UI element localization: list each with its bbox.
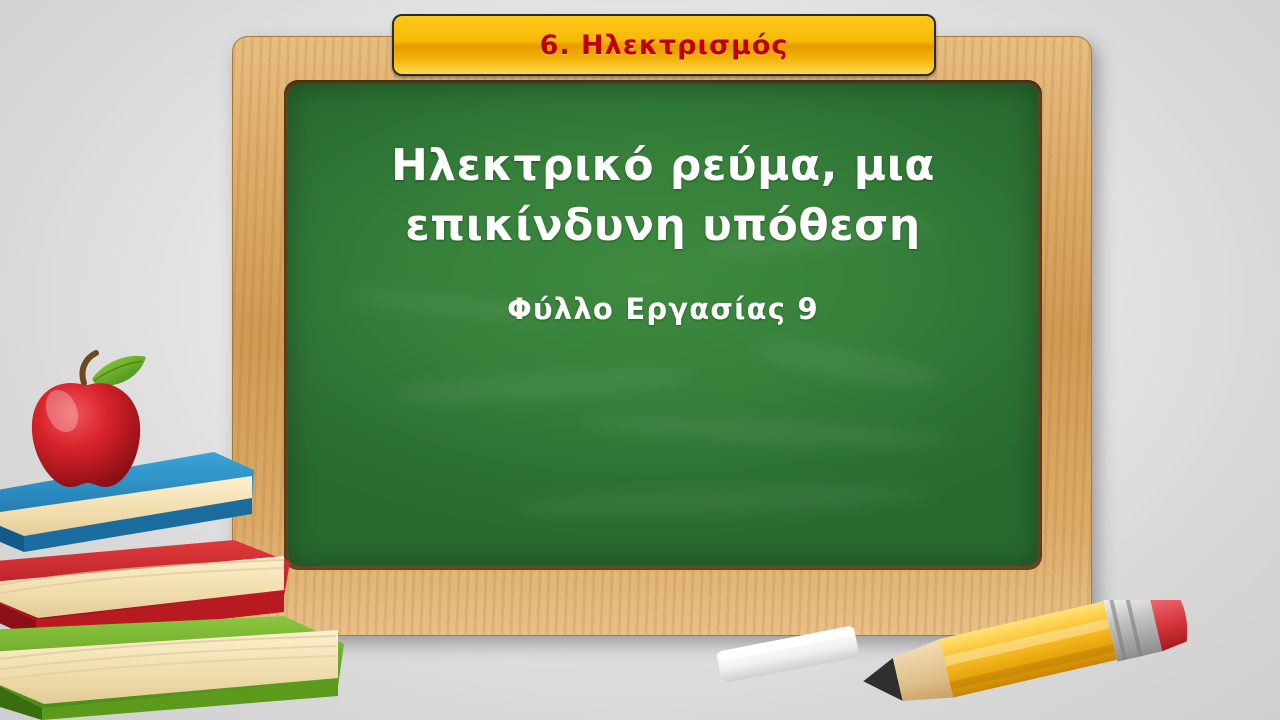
chapter-banner-label: 6. Ηλεκτρισμός — [540, 30, 789, 61]
chalk-smudge — [392, 363, 693, 410]
pencil-and-chalk-icon — [700, 600, 1200, 710]
slide-title-line-2: επικίνδυνη υπόθεση — [328, 196, 998, 256]
blackboard-text-block: Ηλεκτρικό ρεύμα, μια επικίνδυνη υπόθεση … — [288, 84, 1038, 326]
slide-canvas: Ηλεκτρικό ρεύμα, μια επικίνδυνη υπόθεση … — [0, 0, 1280, 720]
slide-title-line-1: Ηλεκτρικό ρεύμα, μια — [328, 136, 998, 196]
apple-icon — [18, 345, 158, 495]
chapter-banner: 6. Ηλεκτρισμός — [392, 14, 936, 76]
chalk-icon — [716, 625, 860, 683]
slide-subtitle: Φύλλο Εργασίας 9 — [328, 292, 998, 326]
slide-title: Ηλεκτρικό ρεύμα, μια επικίνδυνη υπόθεση — [328, 136, 998, 256]
chalk-smudge — [588, 412, 949, 453]
chalk-smudge — [752, 334, 944, 393]
chalk-smudge — [513, 482, 934, 521]
blackboard-surface: Ηλεκτρικό ρεύμα, μια επικίνδυνη υπόθεση … — [288, 84, 1038, 566]
